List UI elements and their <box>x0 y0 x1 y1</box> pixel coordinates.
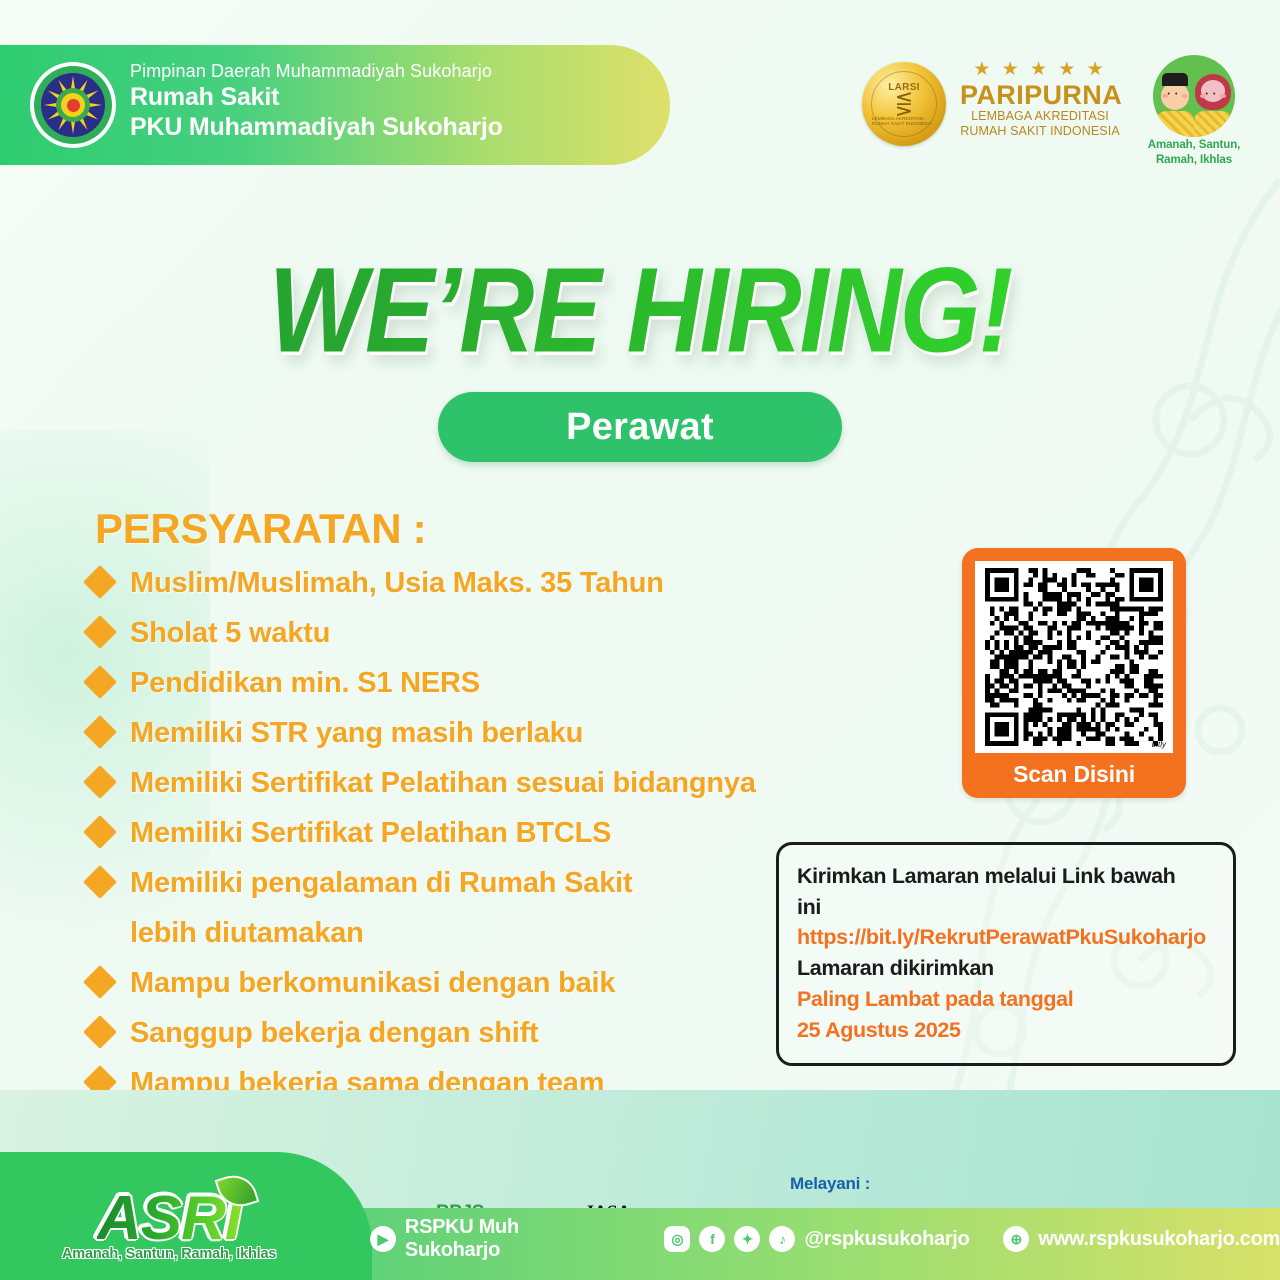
instagram-icon[interactable]: ◎ <box>664 1226 690 1252</box>
requirement-text: Memiliki STR yang masih berlaku <box>130 713 583 755</box>
apply-line-2: ini <box>797 892 1217 923</box>
qr-code-image[interactable]: bitly <box>975 561 1173 753</box>
tiktok-icon[interactable]: ♪ <box>769 1226 795 1252</box>
apply-deadline-date: 25 Agustus 2025 <box>797 1015 1217 1046</box>
melayani-label: Melayani : <box>790 1174 870 1194</box>
requirement-text: Sholat 5 waktu <box>130 613 330 655</box>
qr-code-card[interactable]: bitly Scan Disini <box>962 548 1186 798</box>
diamond-bullet-icon <box>83 765 117 799</box>
header-name-line-1: Rumah Sakit <box>130 83 503 113</box>
requirement-text: Mampu berkomunikasi dengan baik <box>130 963 615 1005</box>
diamond-bullet-icon <box>83 915 117 949</box>
requirement-item: Sholat 5 waktu <box>88 613 968 656</box>
diamond-bullet-icon <box>83 815 117 849</box>
youtube-channel-label: RSPKU Muh Sukoharjo <box>405 1216 619 1262</box>
apply-line-1: Kirimkan Lamaran melalui Link bawah <box>797 861 1217 892</box>
diamond-bullet-icon <box>83 665 117 699</box>
globe-icon[interactable]: ⊕ <box>1003 1226 1029 1252</box>
twitter-icon[interactable]: ✦ <box>734 1226 760 1252</box>
qr-watermark: bitly <box>1152 740 1166 749</box>
mascot-girl-icon: •• <box>1193 82 1233 137</box>
accreditation-body-line-1: LEMBAGA AKREDITASI <box>960 109 1120 124</box>
requirement-item: Memiliki STR yang masih berlaku <box>88 713 968 756</box>
mascot-boy-icon: •• <box>1155 82 1195 137</box>
page-title: WE’RE HIRING! <box>0 242 1280 380</box>
social-handle-label: @rspkusukoharjo <box>804 1228 969 1251</box>
accreditation-block: ★ ★ ★ ★ ★ PARIPURNA LEMBAGA AKREDITASI R… <box>960 60 1120 139</box>
accreditation-grade: PARIPURNA <box>960 81 1120 109</box>
job-position-badge: Perawat <box>438 392 842 462</box>
header-text-block: Pimpinan Daerah Muhammadiyah Sukoharjo R… <box>130 60 503 142</box>
application-info-box: Kirimkan Lamaran melalui Link bawah ini … <box>776 842 1236 1066</box>
requirement-item: Muslim/Muslimah, Usia Maks. 35 Tahun <box>88 563 968 606</box>
diamond-bullet-icon <box>83 715 117 749</box>
diamond-bullet-icon <box>83 615 117 649</box>
requirement-text: Memiliki Sertifikat Pelatihan BTCLS <box>130 813 611 855</box>
requirement-item: Memiliki Sertifikat Pelatihan sesuai bid… <box>88 763 968 806</box>
requirements-heading: PERSYARATAN : <box>95 505 426 553</box>
social-links-row: ▶ RSPKU Muh Sukoharjo ◎ f ✦ ♪ @rspkusuko… <box>370 1216 1280 1262</box>
apply-line-3: Lamaran dikirimkan <box>797 953 1217 984</box>
larsi-medal-icon: LARSI ⋚ LEMBAGA AKREDITASI RUMAH SAKIT I… <box>862 62 946 146</box>
requirement-text: Sanggup bekerja dengan shift <box>130 1013 539 1055</box>
header-name-line-2: PKU Muhammadiyah Sukoharjo <box>130 113 503 143</box>
youtube-icon[interactable]: ▶ <box>370 1226 396 1252</box>
apply-deadline-label: Paling Lambat pada tanggal <box>797 984 1217 1015</box>
website-label: www.rspkusukoharjo.com <box>1038 1228 1280 1251</box>
requirement-text: Memiliki Sertifikat Pelatihan sesuai bid… <box>130 763 756 805</box>
larsi-ring-text: LEMBAGA AKREDITASI RUMAH SAKIT INDONESIA <box>872 116 936 126</box>
application-link[interactable]: https://bit.ly/RekrutPerawatPkuSukoharjo <box>797 922 1217 953</box>
accreditation-stars: ★ ★ ★ ★ ★ <box>960 60 1120 79</box>
recruitment-poster: Pimpinan Daerah Muhammadiyah Sukoharjo R… <box>0 0 1280 1280</box>
requirement-text: Pendidikan min. S1 NERS <box>130 663 480 705</box>
requirement-text: Memiliki pengalaman di Rumah Sakit <box>130 863 632 905</box>
mascot-label-line-2: Ramah, Ikhlas <box>1142 154 1246 167</box>
job-position-label: Perawat <box>566 406 714 449</box>
asri-wordmark: ASRI <box>97 1190 241 1249</box>
accreditation-body-line-2: RUMAH SAKIT INDONESIA <box>960 124 1120 139</box>
hospital-mascot-illustration: •• •• Amanah, Santun, Ramah, Ikhlas <box>1142 55 1246 167</box>
facebook-icon[interactable]: f <box>699 1226 725 1252</box>
muhammadiyah-sun-logo <box>30 62 116 148</box>
youtube-link[interactable]: ▶ RSPKU Muh Sukoharjo <box>370 1216 619 1262</box>
diamond-bullet-icon <box>83 565 117 599</box>
qr-code-label: Scan Disini <box>975 753 1173 795</box>
header-org-line: Pimpinan Daerah Muhammadiyah Sukoharjo <box>130 60 503 83</box>
social-handle-group[interactable]: ◎ f ✦ ♪ @rspkusukoharjo <box>664 1226 969 1252</box>
diamond-bullet-icon <box>83 1015 117 1049</box>
larsi-emblem: ⋚ <box>895 94 913 114</box>
diamond-bullet-icon <box>83 865 117 899</box>
diamond-bullet-icon <box>83 965 117 999</box>
requirement-text: Muslim/Muslimah, Usia Maks. 35 Tahun <box>130 563 664 605</box>
requirement-text: lebih diutamakan <box>130 913 364 955</box>
mascot-label-line-1: Amanah, Santun, <box>1142 139 1246 152</box>
requirement-item: Pendidikan min. S1 NERS <box>88 663 968 706</box>
website-link[interactable]: ⊕ www.rspkusukoharjo.com <box>1003 1226 1280 1252</box>
asri-logo: ASRI Amanah, Santun, Ramah, Ikhlas <box>62 1190 276 1262</box>
